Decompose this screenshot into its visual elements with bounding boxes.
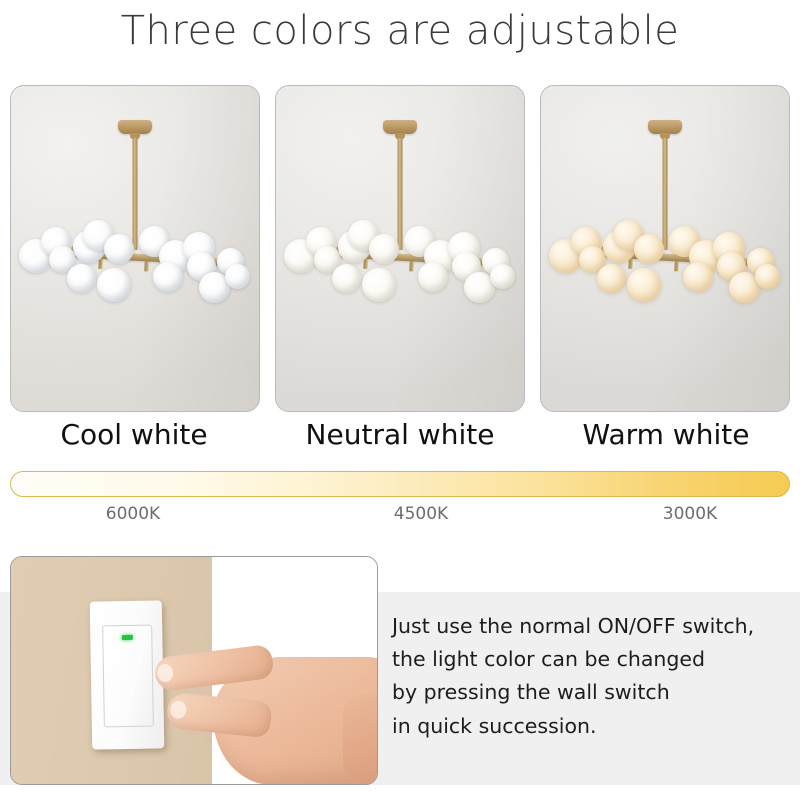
page-title: Three colors are adjustable [0, 8, 800, 54]
color-temperature-bar [10, 471, 790, 497]
light-switch-plate [90, 600, 165, 749]
chandelier-panel-cool-white [10, 85, 260, 412]
caption-line-3: by pressing the wall switch [392, 680, 792, 704]
hand-illustration [161, 623, 378, 785]
tick-3000k: 3000K [663, 504, 717, 524]
downrod [663, 138, 668, 250]
switch-paddle [102, 625, 154, 728]
wall-switch-photo [10, 556, 378, 785]
downrod [398, 138, 403, 250]
ceiling-canopy-icon [648, 120, 682, 134]
wrist [343, 695, 378, 785]
label-neutral-white: Neutral white [276, 418, 524, 458]
downrod [133, 138, 138, 250]
caption-line-1: Just use the normal ON/OFF switch, [392, 614, 792, 638]
ceiling-canopy-icon [118, 120, 152, 134]
ceiling-canopy-icon [383, 120, 417, 134]
caption-line-2: the light color can be changed [392, 647, 792, 671]
tick-6000k: 6000K [106, 504, 160, 524]
caption-line-4: in quick succession. [392, 714, 792, 738]
label-cool-white: Cool white [10, 418, 258, 458]
chandelier-panel-row [10, 85, 790, 410]
chandelier-panel-neutral-white [275, 85, 525, 412]
label-warm-white: Warm white [542, 418, 790, 458]
caption-text: Just use the normal ON/OFF switch, the l… [392, 614, 792, 747]
chandelier-panel-warm-white [540, 85, 790, 412]
led-indicator-icon [122, 635, 133, 640]
color-label-row: Cool white Neutral white Warm white [10, 418, 790, 458]
color-temperature-ticks: 6000K 4500K 3000K [0, 504, 800, 528]
tick-4500k: 4500K [394, 504, 448, 524]
